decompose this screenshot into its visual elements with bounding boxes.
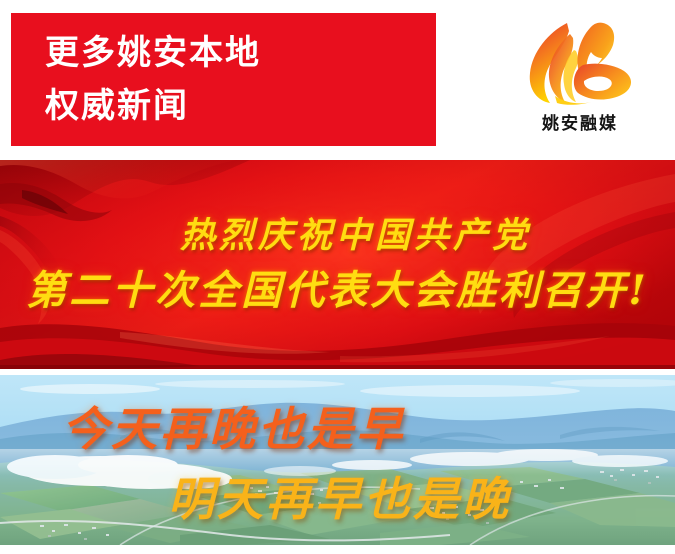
headline-line-2: 权威新闻 (45, 80, 436, 133)
brand-wordmark: 姚安融媒 (542, 109, 618, 134)
congratulation-line-2: 第二十次全国代表大会胜利召开! (26, 263, 649, 319)
brand-logo[interactable]: 姚安融媒 (505, 18, 655, 143)
landscape-slogan-banner[interactable]: 今天再晚也是早 明天再早也是晚 (0, 375, 675, 545)
landscape-slogan-line-2: 明天再早也是晚 (168, 463, 511, 529)
header-strip: 更多姚安本地 权威新闻 (0, 0, 675, 158)
phoenix-flame-logo-icon (521, 18, 639, 106)
headline-line-1: 更多姚安本地 (45, 27, 436, 80)
congratulation-line-1: 热烈庆祝中国共产党 (180, 211, 531, 261)
headline-banner[interactable]: 更多姚安本地 权威新闻 (11, 13, 436, 146)
landscape-slogan-line-1: 今天再晚也是早 (62, 393, 405, 459)
congratulation-text: 热烈庆祝中国共产党 第二十次全国代表大会胜利召开! (0, 160, 675, 369)
landscape-slogan-text: 今天再晚也是早 明天再早也是晚 (0, 375, 675, 545)
bottom-margin (0, 545, 675, 554)
congratulation-banner[interactable]: 热烈庆祝中国共产党 第二十次全国代表大会胜利召开! (0, 160, 675, 369)
